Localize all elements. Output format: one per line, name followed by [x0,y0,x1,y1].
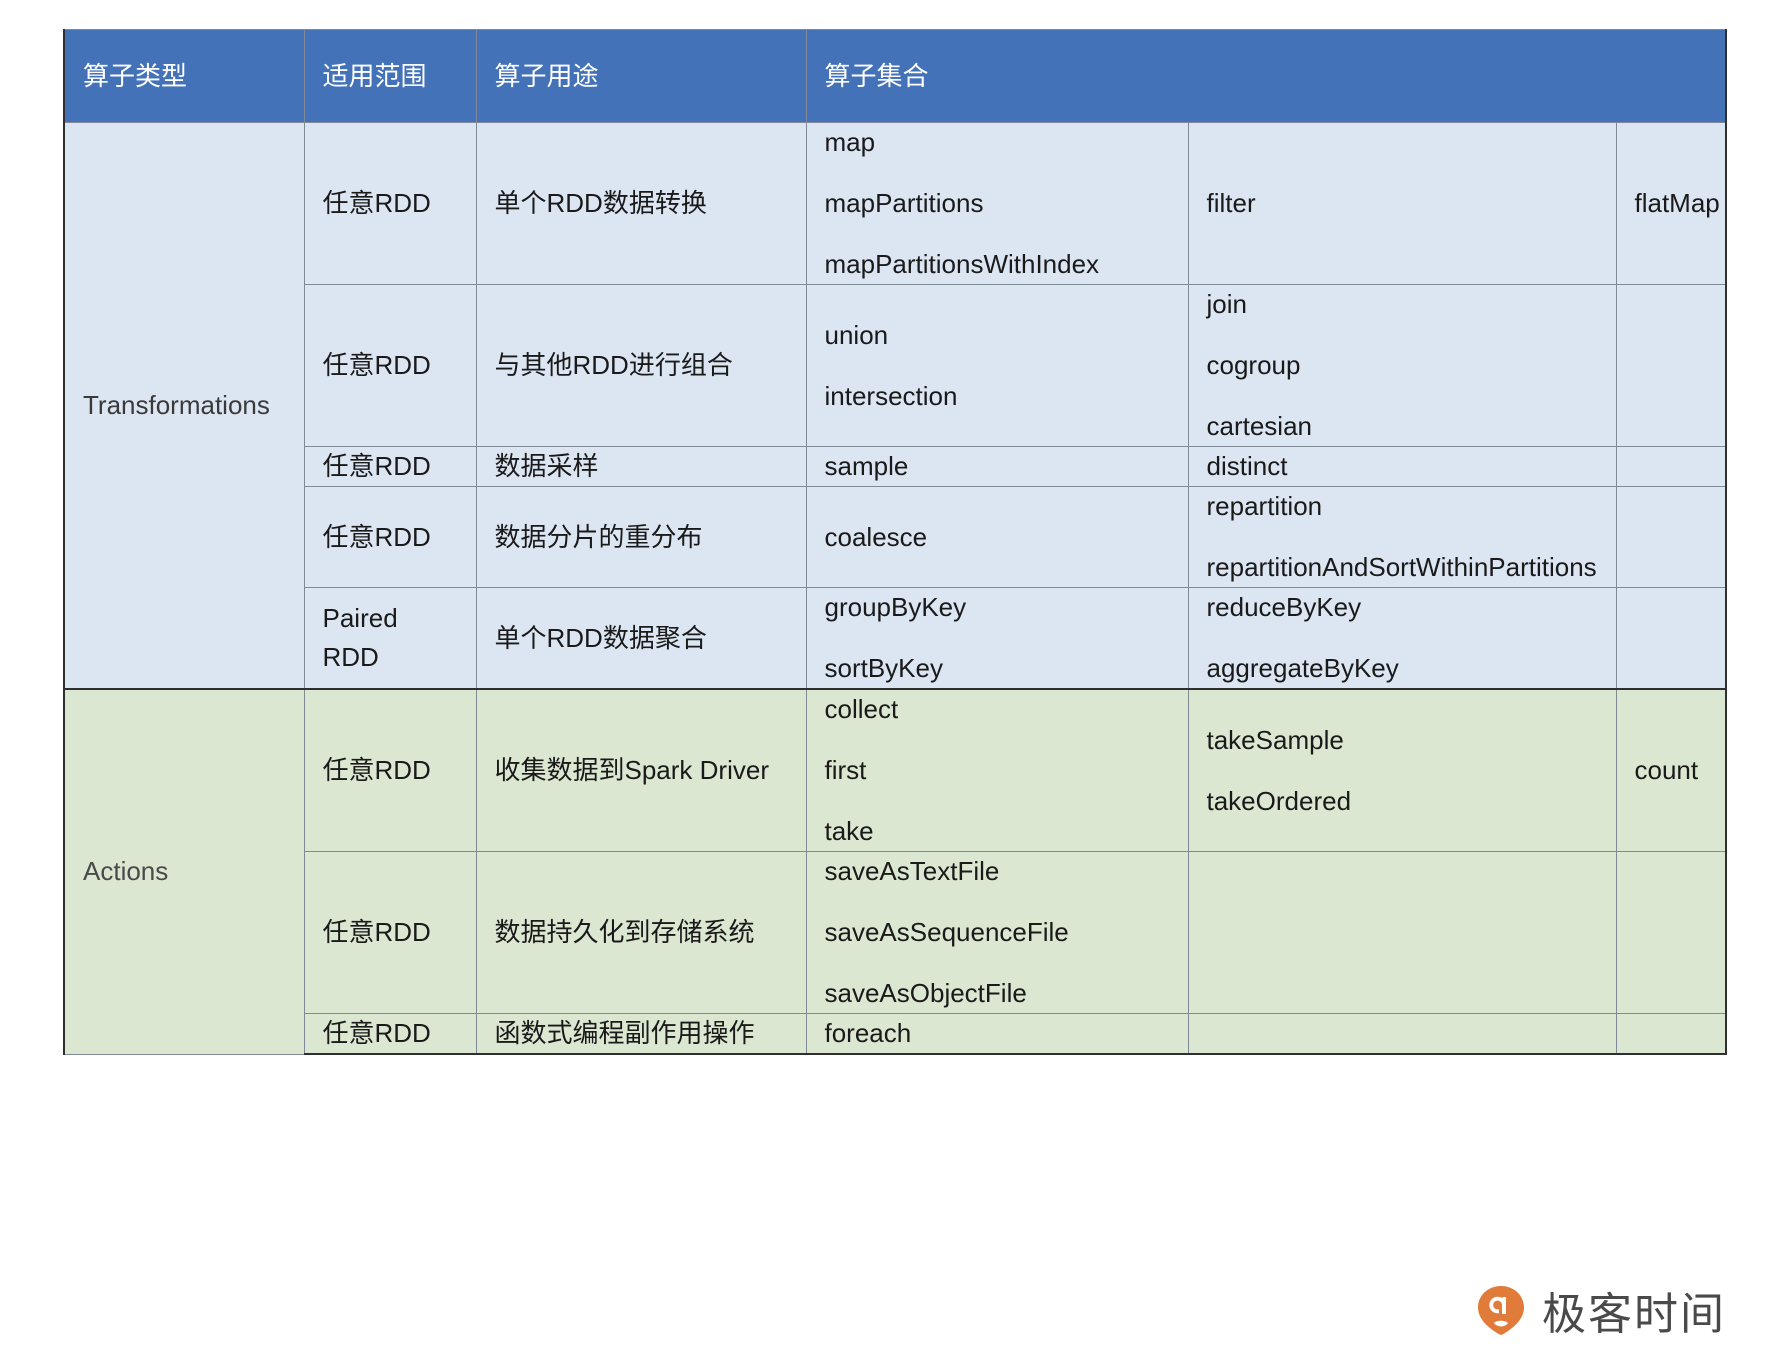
cell-scope: 任意RDD [304,447,476,487]
slide-canvas: 算子类型 适用范围 算子用途 算子集合 Transformations 任意RD… [0,0,1773,1364]
operator-item: foreach [825,1014,1170,1053]
cell-operator-set-2: join cogroup cartesian [1188,285,1616,447]
cell-purpose: 函数式编程副作用操作 [476,1014,806,1055]
cell-operator-set-3: flatMap [1616,123,1726,285]
operator-item: sample [825,447,1170,486]
column-header-scope: 适用范围 [304,30,476,123]
cell-purpose: 与其他RDD进行组合 [476,285,806,447]
table-header: 算子类型 适用范围 算子用途 算子集合 [64,30,1726,123]
cell-operator-set-3 [1616,1014,1726,1055]
cell-purpose: 单个RDD数据转换 [476,123,806,285]
operator-item: join [1207,285,1598,324]
cell-operator-set-1: sample [806,447,1188,487]
operator-item: sortByKey [825,649,1170,688]
operator-item: cogroup [1207,346,1598,385]
brand-logo: 极客时间 [1474,1278,1726,1342]
operator-item: distinct [1207,447,1598,486]
operator-item: count [1635,751,1708,790]
operator-item: repartitionAndSortWithinPartitions [1207,548,1598,587]
column-header-purpose: 算子用途 [476,30,806,123]
operator-item: flatMap [1635,184,1708,223]
cell-purpose: 数据持久化到存储系统 [476,852,806,1014]
table-row: Actions 任意RDD 收集数据到Spark Driver collect … [64,689,1726,852]
operator-item: coalesce [825,518,1170,557]
operator-item: saveAsSequenceFile [825,913,1170,952]
spark-operator-table: 算子类型 适用范围 算子用途 算子集合 Transformations 任意RD… [63,29,1727,1055]
operator-item: map [825,123,1170,162]
cell-scope: Paired RDD [304,588,476,690]
section-label-actions: Actions [64,689,304,1054]
operator-table-container: 算子类型 适用范围 算子用途 算子集合 Transformations 任意RD… [63,29,1725,1055]
cell-operator-set-2 [1188,852,1616,1014]
table-row: 任意RDD 函数式编程副作用操作 foreach [64,1014,1726,1055]
operator-item: collect [825,690,1170,729]
cell-scope: 任意RDD [304,123,476,285]
cell-operator-set-2: filter [1188,123,1616,285]
table-row: 任意RDD 数据持久化到存储系统 saveAsTextFile saveAsSe… [64,852,1726,1014]
cell-purpose: 数据采样 [476,447,806,487]
cell-operator-set-3 [1616,852,1726,1014]
operator-item: groupByKey [825,588,1170,627]
operator-item: repartition [1207,487,1598,526]
operator-item: cartesian [1207,407,1598,446]
cell-operator-set-1: coalesce [806,487,1188,588]
cell-operator-set-3: count [1616,689,1726,852]
cell-operator-set-3 [1616,588,1726,690]
cell-operator-set-2: reduceByKey aggregateByKey [1188,588,1616,690]
table-row: Paired RDD 单个RDD数据聚合 groupByKey sortByKe… [64,588,1726,690]
table-row: Transformations 任意RDD 单个RDD数据转换 map mapP… [64,123,1726,285]
cell-operator-set-1: foreach [806,1014,1188,1055]
cell-operator-set-1: union intersection [806,285,1188,447]
operator-item: saveAsObjectFile [825,974,1170,1013]
operator-item: saveAsTextFile [825,852,1170,891]
cell-operator-set-2 [1188,1014,1616,1055]
cell-operator-set-1: collect first take [806,689,1188,852]
cell-operator-set-2: distinct [1188,447,1616,487]
cell-operator-set-1: map mapPartitions mapPartitionsWithIndex [806,123,1188,285]
cell-operator-set-3 [1616,285,1726,447]
operator-item: mapPartitions [825,184,1170,223]
operator-item: aggregateByKey [1207,649,1598,688]
cell-operator-set-3 [1616,487,1726,588]
cell-purpose: 数据分片的重分布 [476,487,806,588]
cell-scope: 任意RDD [304,285,476,447]
header-row: 算子类型 适用范围 算子用途 算子集合 [64,30,1726,123]
section-actions: Actions 任意RDD 收集数据到Spark Driver collect … [64,689,1726,1054]
column-header-operator-set: 算子集合 [806,30,1726,123]
cell-scope: 任意RDD [304,852,476,1014]
geektime-logo-icon [1474,1283,1528,1337]
cell-operator-set-1: groupByKey sortByKey [806,588,1188,690]
operator-item: union [825,316,1170,355]
operator-item: intersection [825,377,1170,416]
cell-scope: 任意RDD [304,1014,476,1055]
table-row: 任意RDD 与其他RDD进行组合 union intersection join… [64,285,1726,447]
column-header-operator-type: 算子类型 [64,30,304,123]
section-transformations: Transformations 任意RDD 单个RDD数据转换 map mapP… [64,123,1726,690]
table-row: 任意RDD 数据分片的重分布 coalesce repartition repa… [64,487,1726,588]
operator-item: takeSample [1207,721,1598,760]
section-label-transformations: Transformations [64,123,304,690]
cell-operator-set-2: takeSample takeOrdered [1188,689,1616,852]
brand-name: 极客时间 [1542,1278,1726,1342]
cell-purpose: 单个RDD数据聚合 [476,588,806,690]
operator-item: first [825,751,1170,790]
cell-scope: 任意RDD [304,487,476,588]
operator-item: reduceByKey [1207,588,1598,627]
cell-operator-set-2: repartition repartitionAndSortWithinPart… [1188,487,1616,588]
operator-item: take [825,812,1170,851]
operator-item: mapPartitionsWithIndex [825,245,1170,284]
operator-item: filter [1207,184,1598,223]
operator-item: takeOrdered [1207,782,1598,821]
cell-operator-set-1: saveAsTextFile saveAsSequenceFile saveAs… [806,852,1188,1014]
cell-scope: 任意RDD [304,689,476,852]
cell-operator-set-3 [1616,447,1726,487]
table-row: 任意RDD 数据采样 sample distinct [64,447,1726,487]
cell-purpose: 收集数据到Spark Driver [476,689,806,852]
